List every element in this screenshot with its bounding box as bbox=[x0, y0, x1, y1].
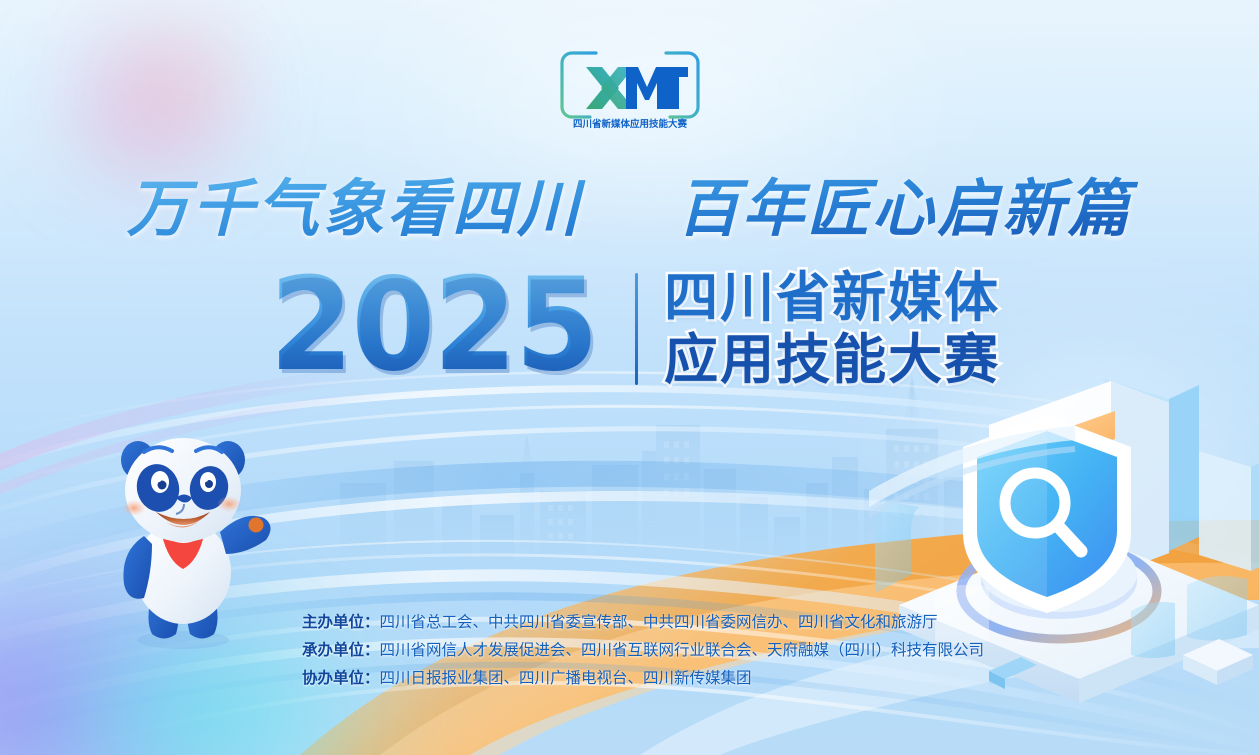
panda-mascot bbox=[88, 412, 278, 652]
slogan-right: 百年匠心启新篇 bbox=[677, 172, 1132, 245]
lockup-divider bbox=[635, 273, 638, 385]
credit-value-organizer: 四川省总工会、中共四川省委宣传部、中共四川省委网信办、四川省文化和旅游厅 bbox=[380, 613, 938, 631]
slogan-headline: 万千气象看四川 百年匠心启新篇 bbox=[0, 158, 1259, 248]
logo-mt-mark bbox=[626, 67, 688, 109]
credit-value-host: 四川省网信人才发展促进会、四川省互联网行业联合会、天府融媒（四川）科技有限公司 bbox=[380, 641, 985, 659]
credit-row-organizer: 主办单位：四川省总工会、中共四川省委宣传部、中共四川省委网信办、四川省文化和旅游… bbox=[302, 612, 984, 633]
slogan-left: 万千气象看四川 bbox=[127, 172, 582, 245]
credit-label-host: 承办单位： bbox=[302, 641, 380, 659]
event-logo[interactable]: 四川省新媒体应用技能大赛 bbox=[556, 47, 704, 131]
title-line-1: 四川省新媒体 bbox=[664, 269, 1000, 327]
logo-subtitle: 四川省新媒体应用技能大赛 bbox=[573, 118, 688, 130]
credit-row-coorganizer: 协办单位：四川日报报业集团、四川广播电视台、四川新传媒集团 bbox=[302, 668, 984, 689]
credits-block: 主办单位：四川省总工会、中共四川省委宣传部、中共四川省委网信办、四川省文化和旅游… bbox=[302, 612, 984, 689]
panda-shadow bbox=[137, 631, 229, 649]
year-text: 2025 bbox=[270, 262, 603, 396]
credit-row-host: 承办单位：四川省网信人才发展促进会、四川省互联网行业联合会、天府融媒（四川）科技… bbox=[302, 640, 984, 661]
panda-cheek-left bbox=[122, 500, 146, 516]
credit-label-coorganizer: 协办单位： bbox=[302, 669, 380, 687]
poster-canvas: 四川省新媒体应用技能大赛 万千气象看四川 百年匠心启新篇 2025 2025 四… bbox=[0, 0, 1259, 755]
credit-value-coorganizer: 四川日报报业集团、四川广播电视台、四川新传媒集团 bbox=[380, 669, 752, 687]
panda-cheek-right bbox=[217, 496, 241, 512]
credit-label-organizer: 主办单位： bbox=[302, 613, 380, 631]
panda-paw-pad bbox=[249, 518, 264, 533]
